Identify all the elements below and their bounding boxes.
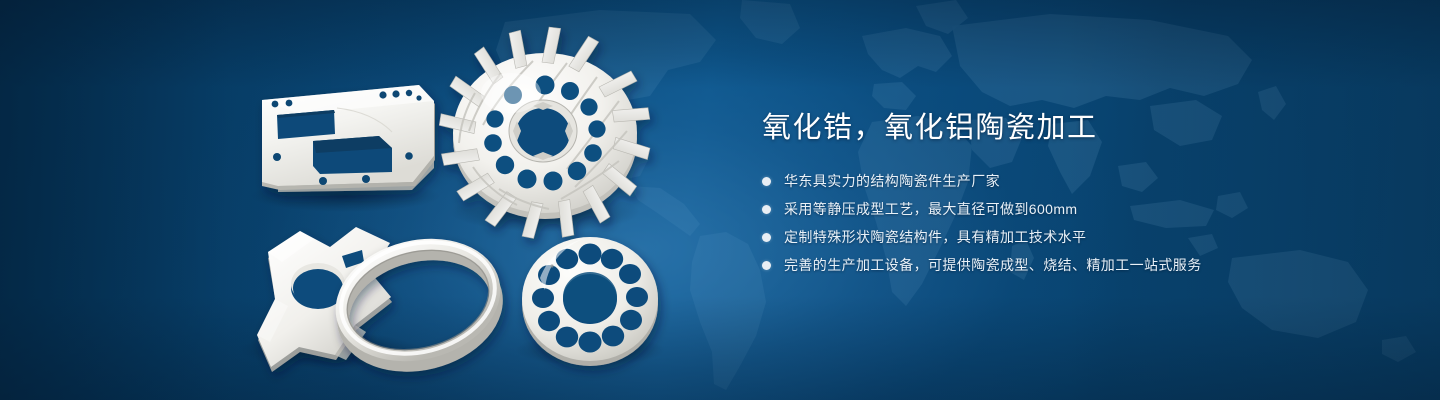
list-item: 采用等静压成型工艺，最大直径可做到600mm <box>762 199 1382 219</box>
list-item-label: 完善的生产加工设备，可提供陶瓷成型、烧结、精加工一站式服务 <box>784 255 1202 275</box>
promo-banner: 氧化锆，氧化铝陶瓷加工 华东具实力的结构陶瓷件生产厂家 采用等静压成型工艺，最大… <box>0 0 1440 400</box>
list-item-label: 定制特殊形状陶瓷结构件，具有精加工技术水平 <box>784 227 1086 247</box>
ceramic-perforated-disc <box>522 237 658 366</box>
page-title: 氧化锆，氧化铝陶瓷加工 <box>762 112 1382 145</box>
banner-copy: 氧化锆，氧化铝陶瓷加工 华东具实力的结构陶瓷件生产厂家 采用等静压成型工艺，最大… <box>762 112 1382 283</box>
ceramic-machined-plate <box>262 85 435 192</box>
product-photo-group <box>0 0 720 400</box>
bullet-dot-icon <box>762 205 771 214</box>
list-item: 定制特殊形状陶瓷结构件，具有精加工技术水平 <box>762 227 1382 247</box>
list-item-label: 采用等静压成型工艺，最大直径可做到600mm <box>784 199 1077 219</box>
list-item-label: 华东具实力的结构陶瓷件生产厂家 <box>784 171 1000 191</box>
bullet-dot-icon <box>762 177 771 186</box>
bullet-dot-icon <box>762 233 771 242</box>
list-item: 完善的生产加工设备，可提供陶瓷成型、烧结、精加工一站式服务 <box>762 255 1382 275</box>
bullet-dot-icon <box>762 261 771 270</box>
list-item: 华东具实力的结构陶瓷件生产厂家 <box>762 171 1382 191</box>
feature-list: 华东具实力的结构陶瓷件生产厂家 采用等静压成型工艺，最大直径可做到600mm 定… <box>762 171 1382 275</box>
